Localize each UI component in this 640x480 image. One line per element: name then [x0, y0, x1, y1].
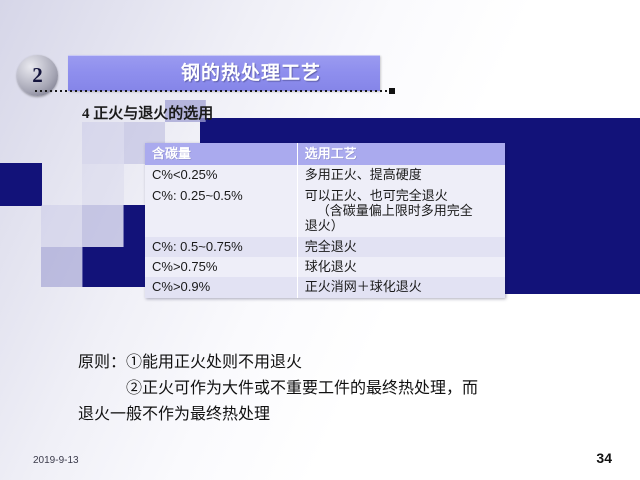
note-line-3: 退火一般不作为最终热处理: [78, 402, 618, 428]
cell-process: 完全退火: [297, 237, 505, 257]
decor-navy-square-left: [0, 163, 42, 206]
section-subtitle: 4 正火与退火的选用: [82, 102, 213, 123]
footer-page-number: 34: [596, 450, 612, 466]
principles-notes: 原则：①能用正火处则不用退火 ②正火可作为大件或不重要工件的最终热处理，而 退火…: [78, 350, 618, 428]
cell-process: 多用正火、提高硬度: [297, 165, 505, 185]
cell-process-line: （含碳量偏上限时多用完全: [305, 203, 498, 218]
footer-date: 2019-9-13: [33, 455, 79, 466]
note-line-2: ②正火可作为大件或不重要工件的最终热处理，而: [78, 376, 618, 402]
table-header-carbon: 含碳量: [145, 143, 297, 165]
table-header-row: 含碳量 选用工艺: [145, 143, 505, 165]
carbon-process-table: 含碳量 选用工艺 C%<0.25% 多用正火、提高硬度 C%: 0.25~0.5…: [145, 143, 505, 298]
table-row: C%>0.75% 球化退火: [145, 257, 505, 277]
table-row: C%: 0.5~0.75% 完全退火: [145, 237, 505, 257]
table-header-process: 选用工艺: [297, 143, 505, 165]
note-line-1: 原则：①能用正火处则不用退火: [78, 354, 302, 371]
slide-canvas: 2 钢的热处理工艺 4 正火与退火的选用 含碳量 选用工艺 C%<0.25% 多…: [0, 0, 640, 480]
title-rule-end-dot: [389, 88, 395, 94]
table-row: C%>0.9% 正火消网＋球化退火: [145, 277, 505, 297]
title-dotted-rule: [35, 90, 390, 92]
cell-process-line: 退火）: [305, 218, 344, 233]
decor-lavender-f: [82, 205, 124, 247]
cell-carbon: C%: 0.25~0.5%: [145, 186, 297, 237]
cell-process: 球化退火: [297, 257, 505, 277]
cell-carbon: C%<0.25%: [145, 165, 297, 185]
cell-process: 可以正火、也可完全退火 （含碳量偏上限时多用完全 退火）: [297, 186, 505, 237]
cell-process: 正火消网＋球化退火: [297, 277, 505, 297]
table-row: C%<0.25% 多用正火、提高硬度: [145, 165, 505, 185]
decor-lavender-d: [82, 164, 124, 205]
decor-lavender-g: [41, 247, 83, 287]
cell-carbon: C%: 0.5~0.75%: [145, 237, 297, 257]
decor-lavender-a: [82, 122, 124, 164]
table-row: C%: 0.25~0.5% 可以正火、也可完全退火 （含碳量偏上限时多用完全 退…: [145, 186, 505, 237]
slide-title-bar: 钢的热处理工艺: [68, 55, 380, 91]
cell-process-line: 可以正火、也可完全退火: [305, 188, 448, 203]
cell-carbon: C%>0.75%: [145, 257, 297, 277]
page-title: 钢的热处理工艺: [68, 56, 380, 91]
cell-carbon: C%>0.9%: [145, 277, 297, 297]
